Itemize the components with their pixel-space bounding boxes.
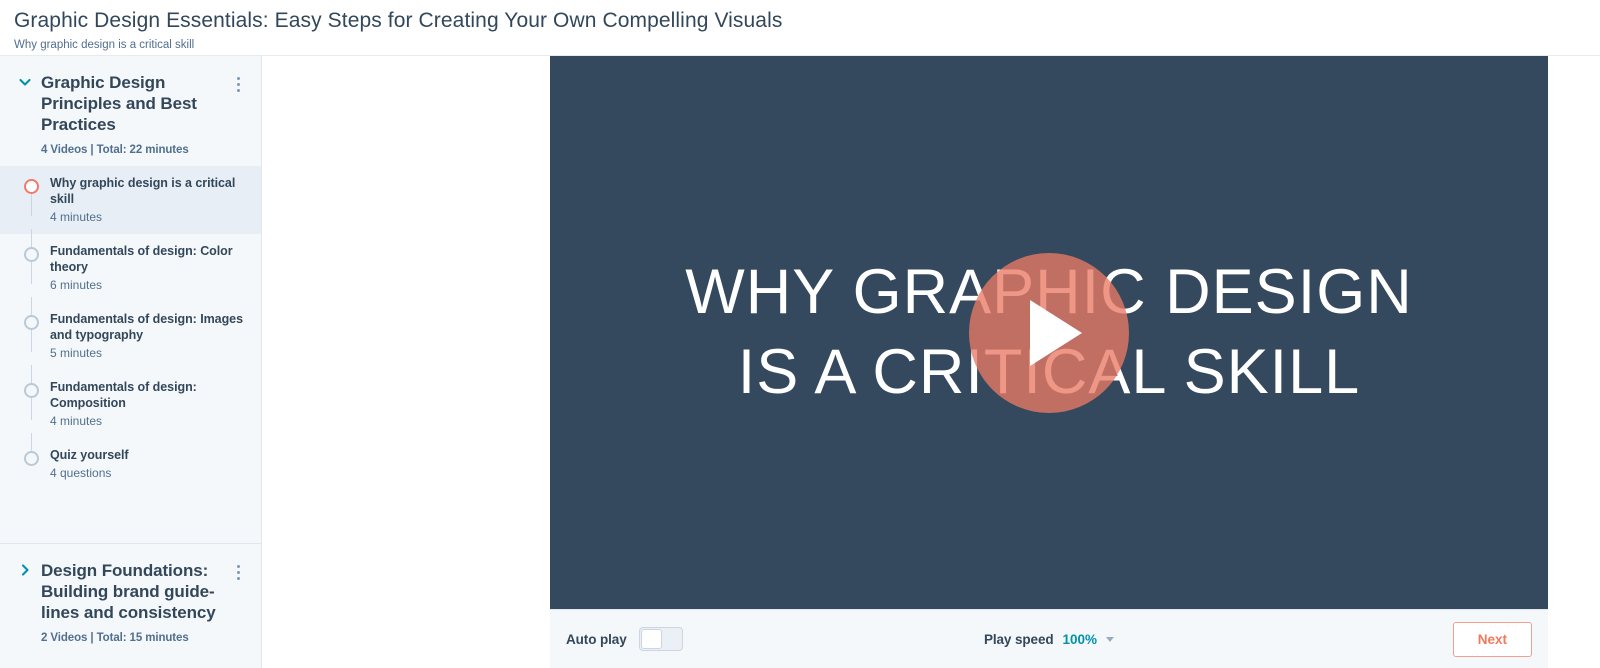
kebab-dot — [237, 83, 240, 86]
player-controls-bar: Auto play Play speed 100% Next — [550, 609, 1548, 668]
list-item[interactable]: Fundamentals of design: Composition 4 mi… — [0, 370, 261, 438]
lesson-duration: 4 minutes — [50, 413, 247, 429]
lesson-duration: 5 minutes — [50, 345, 247, 361]
lesson-marker-column — [14, 243, 48, 262]
lesson-marker-column — [14, 311, 48, 330]
module-meta: 4 Videos | Total: 22 minutes — [41, 144, 229, 156]
next-button[interactable]: Next — [1453, 622, 1532, 657]
toggle-knob — [641, 629, 662, 649]
next-control: Next — [1453, 622, 1532, 657]
play-speed-control: Play speed 100% — [984, 632, 1114, 647]
autoplay-control: Auto play — [566, 627, 683, 651]
lesson-list: Why graphic design is a critical skill 4… — [0, 166, 261, 510]
lesson-status-dot-active — [24, 179, 39, 194]
kebab-dot — [237, 565, 240, 568]
lesson-duration: 6 minutes — [50, 277, 247, 293]
lesson-title: Fundamentals of design: Images and typog… — [50, 311, 247, 343]
lesson-marker-column — [14, 447, 48, 466]
lesson-title: Fundamentals of design: Composition — [50, 379, 247, 411]
kebab-dot — [237, 577, 240, 580]
play-button-icon[interactable] — [969, 253, 1129, 413]
lesson-text: Fundamentals of design: Images and typog… — [48, 311, 247, 361]
lesson-title: Quiz yourself — [50, 447, 247, 463]
lesson-marker-column — [14, 379, 48, 398]
chevron-down-icon[interactable] — [14, 72, 36, 89]
module-header[interactable]: Graphic Design Principles and Best Pract… — [0, 56, 261, 166]
list-item[interactable]: Fundamentals of design: Images and typog… — [0, 302, 261, 370]
module-title: Graphic Design Principles and Best Pract… — [41, 72, 229, 135]
page-title: Graphic Design Essentials: Easy Steps fo… — [14, 8, 1600, 34]
lesson-status-dot — [24, 451, 39, 466]
lesson-title: Fundamentals of design: Color theory — [50, 243, 247, 275]
chevron-right-icon[interactable] — [14, 560, 36, 577]
lesson-text: Fundamentals of design: Color theory 6 m… — [48, 243, 247, 293]
play-speed-label: Play speed — [984, 632, 1054, 647]
lesson-status-dot — [24, 383, 39, 398]
lesson-title: Why graphic design is a critical skill — [50, 175, 247, 207]
module-title: Design Foundations: Building brand guide… — [41, 560, 229, 623]
autoplay-label: Auto play — [566, 632, 627, 647]
app-body: Graphic Design Principles and Best Pract… — [0, 56, 1600, 668]
autoplay-toggle[interactable] — [639, 627, 683, 651]
lesson-duration: 4 questions — [50, 465, 247, 481]
lesson-marker-column — [14, 175, 48, 194]
lesson-status-dot — [24, 247, 39, 262]
video-player-column: WHY GRAPHIC DESIGN IS A CRITICAL SKILL A… — [550, 56, 1600, 668]
video-stage[interactable]: WHY GRAPHIC DESIGN IS A CRITICAL SKILL — [550, 56, 1548, 609]
lesson-status-dot — [24, 315, 39, 330]
lesson-text: Why graphic design is a critical skill 4… — [48, 175, 247, 225]
kebab-dot — [237, 89, 240, 92]
lesson-text: Quiz yourself 4 questions — [48, 447, 247, 481]
module-design-foundations: Design Foundations: Building brand guide… — [0, 543, 261, 654]
lesson-text: Fundamentals of design: Composition 4 mi… — [48, 379, 247, 429]
module-header[interactable]: Design Foundations: Building brand guide… — [0, 544, 261, 654]
content-gutter — [262, 56, 550, 668]
app-header: Graphic Design Essentials: Easy Steps fo… — [0, 0, 1600, 56]
kebab-menu-icon[interactable] — [229, 560, 247, 580]
play-triangle — [1030, 300, 1082, 366]
lesson-duration: 4 minutes — [50, 209, 247, 225]
chevron-down-icon[interactable] — [1106, 637, 1114, 642]
lesson-subtitle: Why graphic design is a critical skill — [14, 37, 1600, 53]
list-item[interactable]: Why graphic design is a critical skill 4… — [0, 166, 261, 234]
list-item[interactable]: Quiz yourself 4 questions — [0, 438, 261, 498]
course-outline-sidebar[interactable]: Graphic Design Principles and Best Pract… — [0, 56, 262, 668]
kebab-menu-icon[interactable] — [229, 72, 247, 92]
module-graphic-design-principles: Graphic Design Principles and Best Pract… — [0, 56, 261, 510]
module-headings: Graphic Design Principles and Best Pract… — [36, 72, 229, 156]
list-item[interactable]: Fundamentals of design: Color theory 6 m… — [0, 234, 261, 302]
kebab-dot — [237, 571, 240, 574]
module-meta: 2 Videos | Total: 15 minutes — [41, 632, 229, 644]
play-speed-value[interactable]: 100% — [1063, 632, 1098, 647]
module-headings: Design Foundations: Building brand guide… — [36, 560, 229, 644]
kebab-dot — [237, 77, 240, 80]
